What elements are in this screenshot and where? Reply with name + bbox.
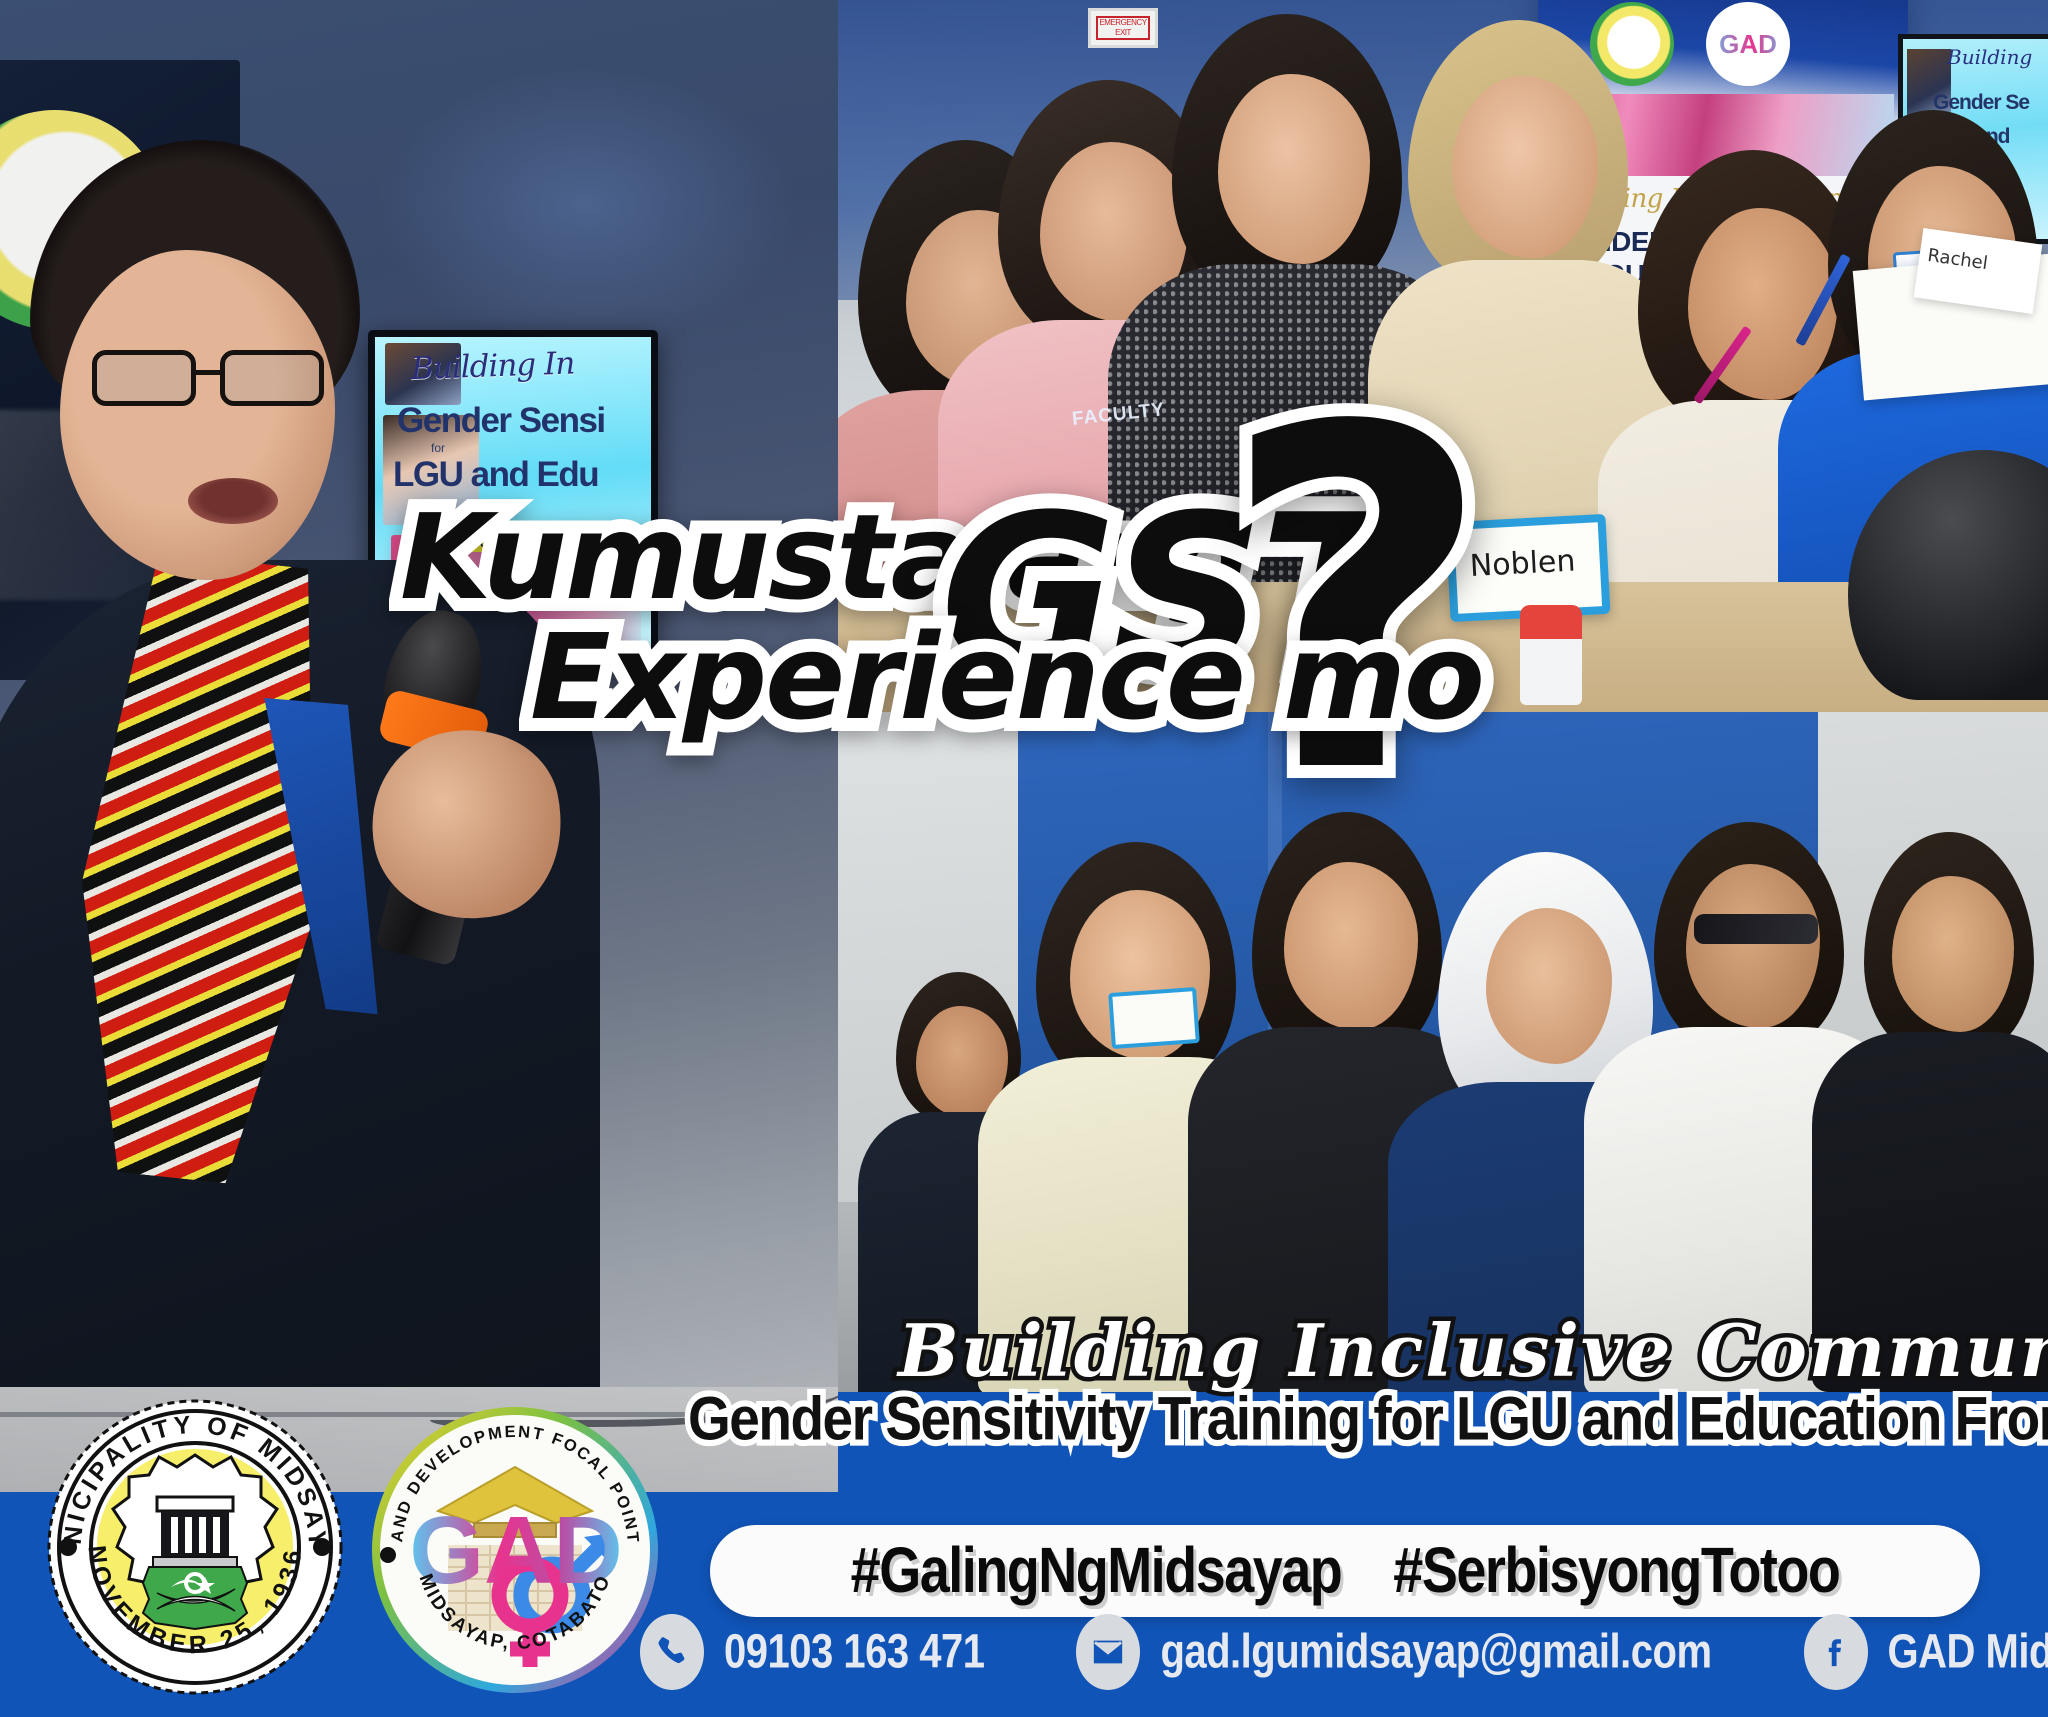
tarpaulin-gad-logo: GAD xyxy=(1706,2,1790,86)
email-address-text: gad.lgumidsayap@gmail.com xyxy=(1160,1625,1711,1679)
caption-main-line: Gender Sensitivity Training for LGU and … xyxy=(688,1382,2048,1454)
contact-facebook[interactable]: GAD Midsayap xyxy=(1804,1614,2048,1690)
name-tag-text: Noblen xyxy=(1469,544,1576,584)
photo-laughing-participants-group xyxy=(838,712,2048,1392)
envelope-icon xyxy=(1076,1614,1140,1690)
caption-script-line: Building Inclusive Community: xyxy=(898,1308,1998,1393)
participant-name-tag-small xyxy=(1108,987,1200,1049)
facebook-page-text: GAD Midsayap xyxy=(1888,1625,2048,1679)
lens-left xyxy=(92,350,196,406)
contact-email[interactable]: gad.lgumidsayap@gmail.com xyxy=(1076,1614,1711,1690)
eyeglasses xyxy=(92,350,342,410)
sunglasses-icon xyxy=(1694,914,1818,944)
gad-logo: GAD GENDER AND DEVELOPMENT FOCAL POINT S… xyxy=(370,1405,660,1695)
tv-date-text: October 30-31, 2025 | M xyxy=(409,533,574,552)
side-tarpaulin-script: Building xyxy=(1947,45,2048,69)
tv-title-line2: LGU and Edu xyxy=(393,455,598,495)
tv-title-mid: for xyxy=(431,441,445,455)
tv-title-line1: Gender Sensi xyxy=(397,401,605,441)
paper-card-handwriting: Rachel xyxy=(1926,245,1989,274)
caption-overlay: Building Inclusive Community: Gender Sen… xyxy=(838,1308,2048,1438)
photo-participants-signing-cards: EMERGENCY EXIT GAD Building Inclusive Co… xyxy=(838,0,2048,712)
hashtag-pill: #GalingNgMidsayap #SerbisyongTotoo xyxy=(710,1525,1980,1617)
tv-script-text: Building In xyxy=(410,343,647,387)
speaker-mouth xyxy=(188,478,278,524)
lens-right xyxy=(220,350,324,406)
hashtag-serbisyong: #SerbisyongTotoo xyxy=(1393,1534,1839,1607)
tarpaulin-gad-monogram: GAD xyxy=(1706,2,1790,86)
facebook-icon xyxy=(1804,1614,1868,1690)
contact-row: 09103 163 471 gad.lgumidsayap@gmail.com … xyxy=(640,1613,2030,1691)
phone-number-text: 09103 163 471 xyxy=(724,1625,984,1679)
poster-canvas: Building In Gender Sensi for LGU and Edu… xyxy=(0,0,2048,1717)
water-bottle xyxy=(1520,605,1582,705)
hashtag-galing: #GalingNgMidsayap xyxy=(851,1534,1342,1607)
contact-phone[interactable]: 09103 163 471 xyxy=(640,1614,984,1690)
municipality-seal-logo: MUNICIPALITY OF MIDSAYAP NOVEMBER 25, 19… xyxy=(45,1397,345,1697)
